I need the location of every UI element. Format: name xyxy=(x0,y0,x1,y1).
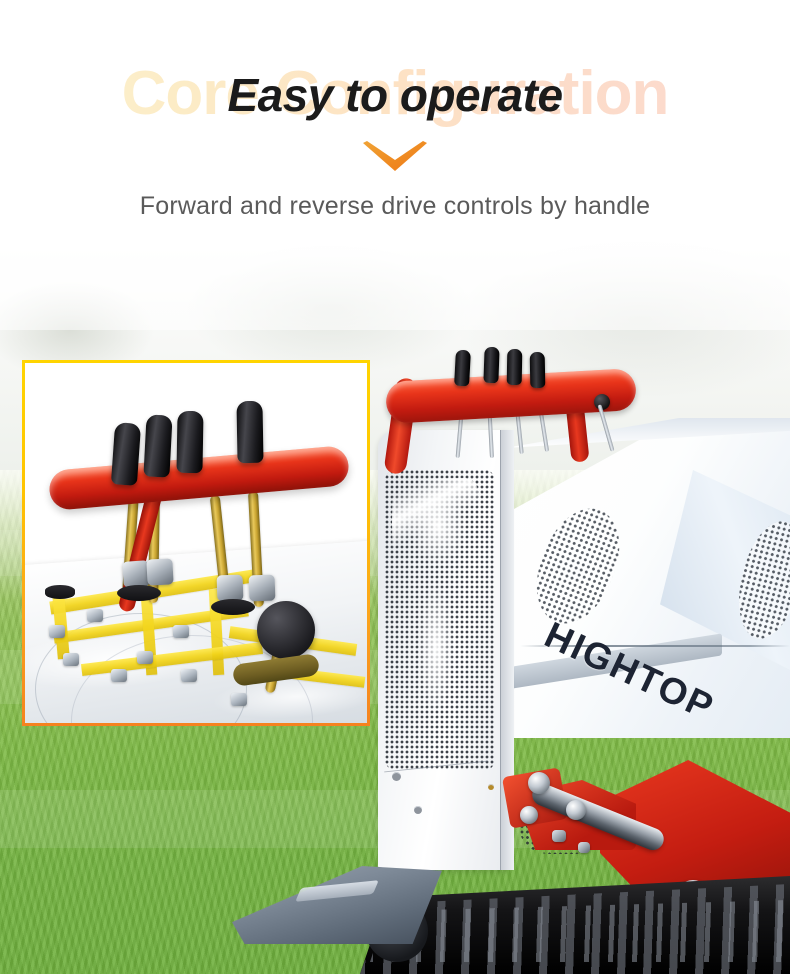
inset-deck-screw xyxy=(49,625,65,638)
hood-panel-line xyxy=(500,430,501,870)
inset-lever-base xyxy=(117,585,161,601)
inset-control-knob xyxy=(176,411,203,473)
closeup-inset-photo[interactable] xyxy=(22,360,370,726)
inset-valve-block xyxy=(257,601,315,659)
hex-nut xyxy=(552,830,566,842)
hood-bolt xyxy=(414,806,422,814)
mesh-highlight-glare xyxy=(392,478,478,708)
hex-nut xyxy=(578,842,590,853)
inset-deck-screw xyxy=(87,609,103,622)
product-feature-banner: HIGHTOP xyxy=(0,0,790,974)
inset-deck-screw xyxy=(111,669,127,682)
inset-lever-clamp xyxy=(217,575,244,602)
control-lever-knob xyxy=(507,349,523,385)
pivot-pin xyxy=(528,772,550,794)
inset-deck-screw xyxy=(173,625,189,638)
leveling-blade xyxy=(232,866,442,944)
chevron-down-icon xyxy=(362,140,428,176)
hood-bolt xyxy=(392,772,401,781)
inset-control-knob xyxy=(111,422,141,486)
page-subtitle: Forward and reverse drive controls by ha… xyxy=(0,192,790,221)
inset-deck-screw xyxy=(181,669,197,682)
inset-deck-screw xyxy=(231,693,247,706)
inset-lever-base xyxy=(211,599,255,615)
inset-lever-clamp xyxy=(146,558,173,585)
pivot-pin xyxy=(520,806,538,824)
hood-bolt xyxy=(488,784,494,790)
inset-deck-screw xyxy=(137,651,153,664)
page-title: Easy to operate xyxy=(0,64,790,126)
pivot-pin xyxy=(566,800,586,820)
inset-lever-clamp xyxy=(249,575,276,602)
header-block: Core Configuration Easy to operate Forwa… xyxy=(0,0,790,250)
inset-lever-base xyxy=(45,585,75,599)
control-lever-knob xyxy=(454,350,471,387)
inset-photo-canvas xyxy=(25,363,367,723)
inset-control-knob xyxy=(143,414,172,477)
control-lever-knob xyxy=(483,347,499,384)
inset-deck-screw xyxy=(63,653,79,666)
control-lever-knob xyxy=(530,352,546,388)
inset-control-knob xyxy=(236,401,263,463)
